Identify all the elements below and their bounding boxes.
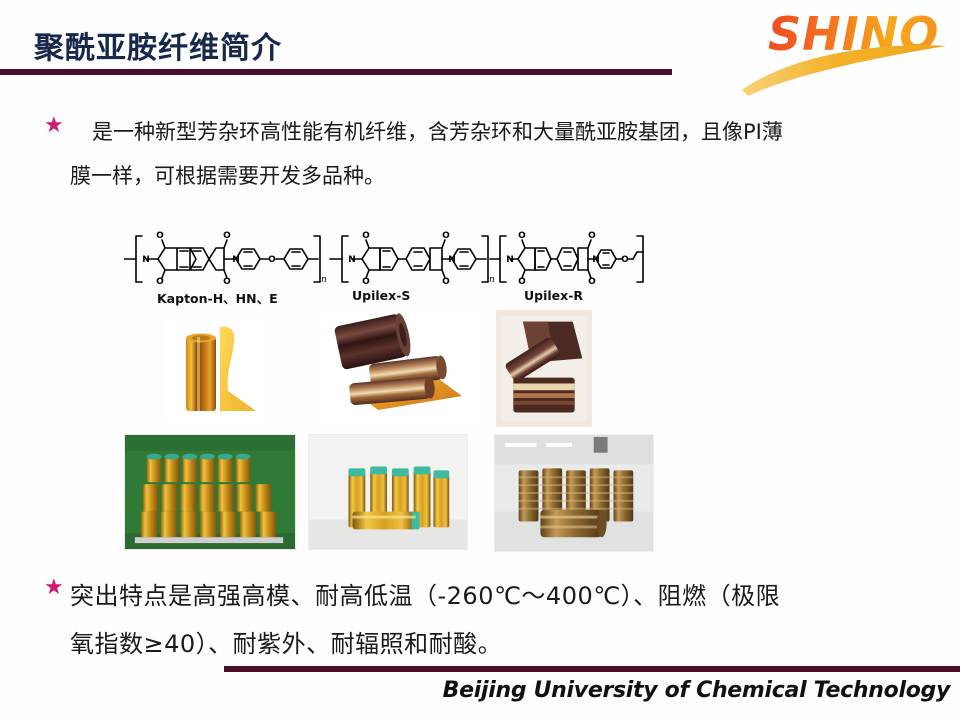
photo-gold-fiber-bobbins-teal-caps xyxy=(308,434,468,550)
svg-text:O: O xyxy=(442,231,450,241)
svg-text:O: O xyxy=(518,231,526,241)
footer-institution: Beijing University of Chemical Technolog… xyxy=(0,678,950,703)
svg-text:N: N xyxy=(142,255,150,265)
svg-text:O: O xyxy=(588,231,596,241)
svg-text:N: N xyxy=(592,255,600,265)
svg-text:O: O xyxy=(518,277,526,287)
svg-text:O: O xyxy=(442,277,450,287)
star-bullet-icon-2: ★ xyxy=(44,576,70,598)
page-title: 聚酰亚胺纤维简介 xyxy=(34,23,282,67)
photo-brown-amber-pi-film-rolls xyxy=(320,312,480,427)
repeat-subscript-2: n xyxy=(489,275,495,285)
photo-brown-pi-film-rolls-boxed xyxy=(496,310,592,427)
bullet-item-1: ★ 是一种新型芳杂环高性能有机纤维，含芳杂环和大量酰亚胺基团，且像PI薄膜一样，… xyxy=(44,110,784,198)
slide-canvas: 聚酰亚胺纤维简介 SHINO ★ 是一种新型 xyxy=(0,0,960,720)
bullet-item-2: ★ 突出特点是高强高模、耐高低温（-260℃～400℃）、阻燃（极限氧指数≥40… xyxy=(44,572,804,668)
chemical-structure-row: N OO OO N O N OO OO N N OO OO N O n n n xyxy=(124,228,644,314)
svg-text:N: N xyxy=(506,255,514,265)
polyimide-structure-diagram: N OO OO N O N OO OO N N OO OO N O n n n xyxy=(124,228,644,290)
photo-golden-pi-film-roll xyxy=(164,317,270,423)
structure-label-kapton: Kapton-H、HN、E xyxy=(157,288,278,307)
title-divider xyxy=(0,69,672,75)
svg-text:O: O xyxy=(621,255,629,265)
svg-text:O: O xyxy=(223,277,231,287)
svg-text:O: O xyxy=(268,255,276,265)
svg-text:N: N xyxy=(448,255,456,265)
structure-label-upilex-s: Upilex-S xyxy=(352,288,410,303)
repeat-subscript-1: n xyxy=(321,275,327,285)
bullet-text-2: 突出特点是高强高模、耐高低温（-260℃～400℃）、阻燃（极限氧指数≥40）、… xyxy=(70,572,804,668)
svg-text:O: O xyxy=(588,277,596,287)
bullet-text-1: 是一种新型芳杂环高性能有机纤维，含芳杂环和大量酰亚胺基团，且像PI薄膜一样，可根… xyxy=(70,110,784,198)
svg-text:O: O xyxy=(362,277,370,287)
svg-text:O: O xyxy=(156,231,164,241)
photo-bronze-fiber-spools xyxy=(494,434,654,552)
svg-text:N: N xyxy=(348,255,356,265)
svg-text:O: O xyxy=(156,277,164,287)
svg-text:O: O xyxy=(362,231,370,241)
photo-gold-fiber-bobbins-on-green-pallet xyxy=(124,434,296,550)
svg-text:O: O xyxy=(223,231,231,241)
svg-text:N: N xyxy=(232,255,240,265)
structure-labels: Kapton-H、HN、E Upilex-S Upilex-R xyxy=(124,288,644,308)
star-bullet-icon: ★ xyxy=(44,114,70,136)
footer-divider xyxy=(224,666,960,672)
shino-logo: SHINO xyxy=(740,2,952,100)
structure-label-upilex-r: Upilex-R xyxy=(524,288,583,303)
